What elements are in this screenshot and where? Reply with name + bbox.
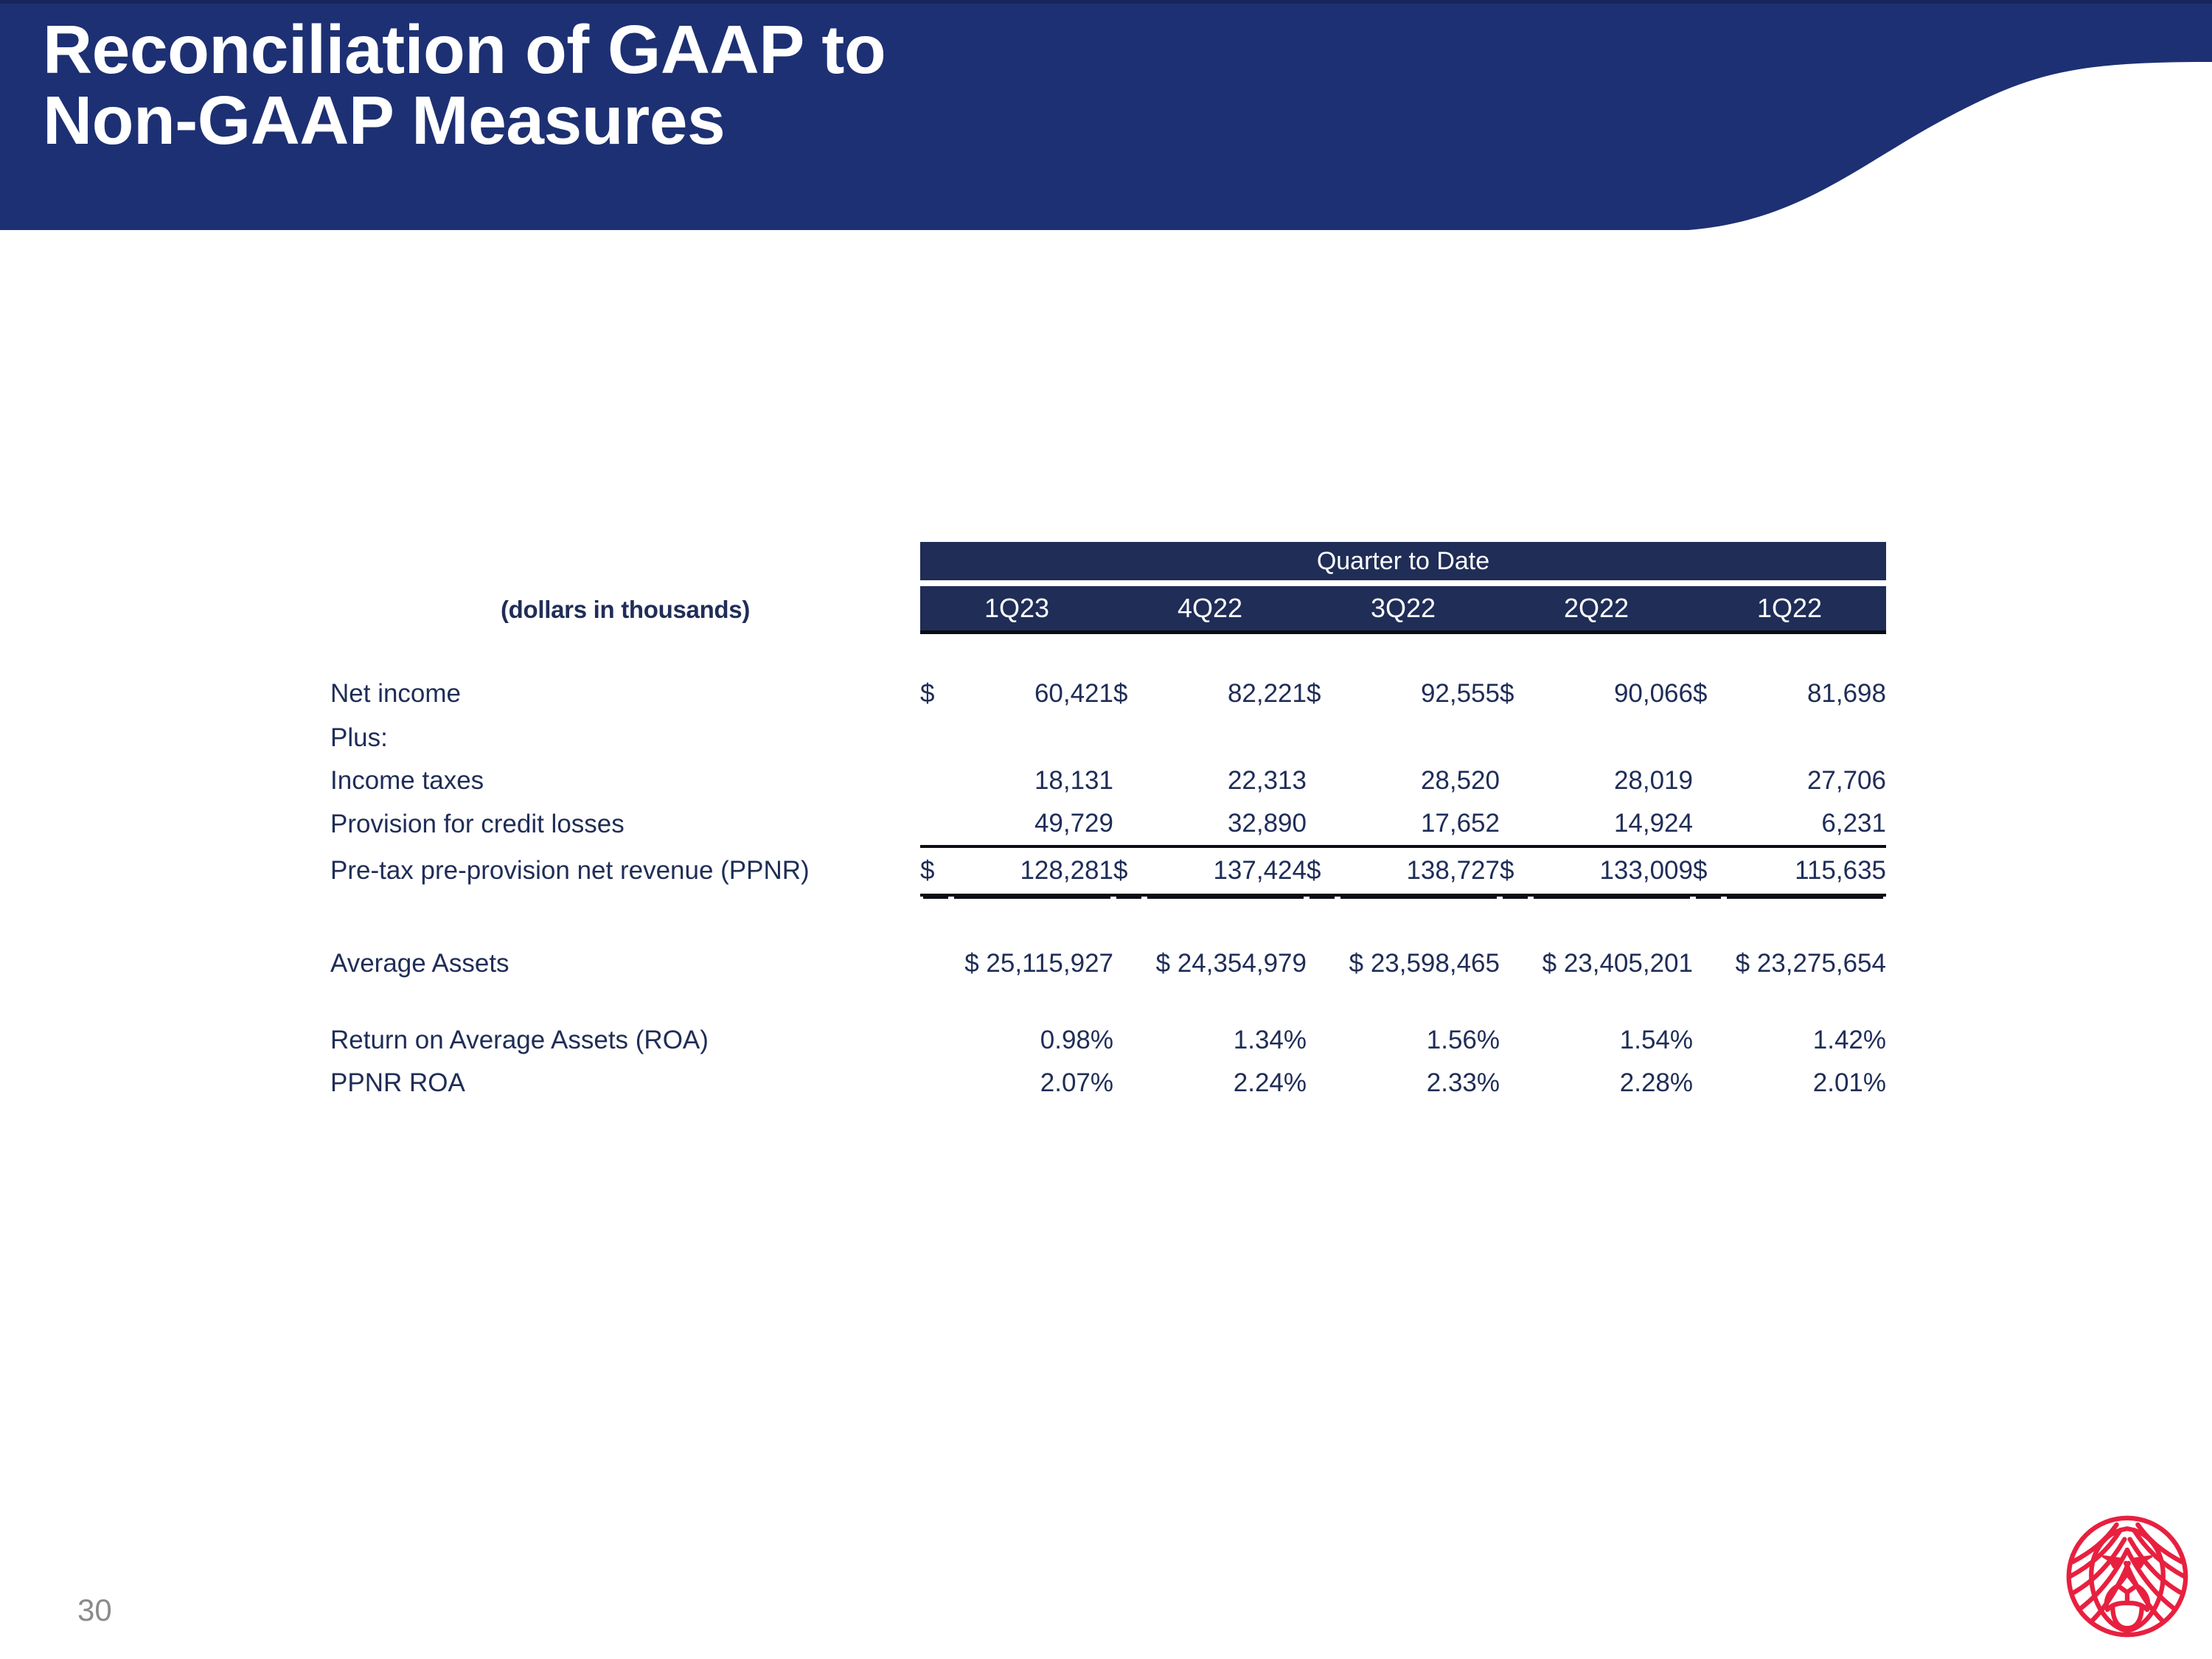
cell-value: 81,698 — [1724, 671, 1886, 717]
cell-value: 17,652 — [1338, 802, 1500, 846]
table-row-ppnr-roa: PPNR ROA 2.07% 2.24% 2.33% 2.28% 2.01% — [330, 1062, 1886, 1105]
currency-symbol: $ — [1693, 846, 1724, 895]
lion-head-logo — [2057, 1510, 2197, 1643]
cell-value: 90,066 — [1531, 671, 1693, 717]
table-row-provision-credit-losses: Provision for credit losses 49,729 32,89… — [330, 802, 1886, 846]
row-label: Pre-tax pre-provision net revenue (PPNR) — [330, 846, 920, 895]
reconciliation-table: Quarter to Date (dollars in thousands) 1… — [330, 542, 1886, 1105]
currency-symbol: $ — [1113, 846, 1144, 895]
cell-value: 18,131 — [951, 759, 1113, 802]
row-label: Net income — [330, 671, 920, 717]
currency-symbol: $ — [1307, 846, 1338, 895]
cell-value: $ 23,275,654 — [1693, 941, 1886, 987]
cell-value: 60,421 — [951, 671, 1113, 717]
cell-value: 1.56% — [1338, 1019, 1500, 1062]
cell-value: 28,520 — [1338, 759, 1500, 802]
cell-value: 115,635 — [1724, 846, 1886, 895]
cell-value: 14,924 — [1531, 802, 1693, 846]
cell-value: 32,890 — [1144, 802, 1307, 846]
row-label: Plus: — [330, 717, 920, 759]
row-label: Provision for credit losses — [330, 802, 920, 846]
cell-value: 2.33% — [1338, 1062, 1500, 1105]
cell-value: 2.01% — [1724, 1062, 1886, 1105]
cell-value: 0.98% — [951, 1019, 1113, 1062]
slide-canvas: Reconciliation of GAAP to Non-GAAP Measu… — [0, 0, 2212, 1659]
cell-value: 1.54% — [1531, 1019, 1693, 1062]
cell-value: 92,555 — [1338, 671, 1500, 717]
currency-symbol: $ — [1113, 671, 1144, 717]
cell-value: 1.34% — [1144, 1019, 1307, 1062]
cell-value: $ 23,598,465 — [1307, 941, 1500, 987]
cell-value: 2.07% — [951, 1062, 1113, 1105]
group-header-label: Quarter to Date — [920, 542, 1886, 580]
table-column-header-row: (dollars in thousands) 1Q23 4Q22 3Q22 2Q… — [330, 586, 1886, 633]
table-row-ppnr: Pre-tax pre-provision net revenue (PPNR)… — [330, 846, 1886, 895]
cell-value: 22,313 — [1144, 759, 1307, 802]
column-header-1q22: 1Q22 — [1693, 586, 1886, 633]
currency-symbol: $ — [1693, 671, 1724, 717]
table-group-header-row: Quarter to Date — [330, 542, 1886, 580]
cell-value: 138,727 — [1338, 846, 1500, 895]
units-label: (dollars in thousands) — [501, 596, 750, 623]
currency-symbol: $ — [1307, 671, 1338, 717]
cell-value: 49,729 — [951, 802, 1113, 846]
column-header-2q22: 2Q22 — [1500, 586, 1693, 633]
cell-value: 28,019 — [1531, 759, 1693, 802]
table-row-spacer — [330, 895, 1886, 941]
row-label: Average Assets — [330, 941, 920, 987]
table-row-roa: Return on Average Assets (ROA) 0.98% 1.3… — [330, 1019, 1886, 1062]
currency-symbol: $ — [1500, 671, 1531, 717]
table-row-net-income: Net income $ 60,421 $ 82,221 $ 92,555 $ … — [330, 671, 1886, 717]
page-number: 30 — [77, 1593, 112, 1628]
cell-value: 27,706 — [1724, 759, 1886, 802]
currency-symbol: $ — [1500, 846, 1531, 895]
table-row-average-assets: Average Assets $ 25,115,927 $ 24,354,979… — [330, 941, 1886, 987]
column-header-3q22: 3Q22 — [1307, 586, 1500, 633]
column-header-4q22: 4Q22 — [1113, 586, 1307, 633]
header-spacer — [330, 633, 1886, 672]
cell-value: 2.24% — [1144, 1062, 1307, 1105]
currency-symbol: $ — [920, 846, 951, 895]
row-label: Income taxes — [330, 759, 920, 802]
header-band-gap — [330, 580, 1886, 586]
cell-value: 2.28% — [1531, 1062, 1693, 1105]
column-header-1q23: 1Q23 — [920, 586, 1113, 633]
cell-value: $ 24,354,979 — [1113, 941, 1307, 987]
cell-value: 133,009 — [1531, 846, 1693, 895]
cell-value: 1.42% — [1724, 1019, 1886, 1062]
cell-value: $ 25,115,927 — [920, 941, 1113, 987]
cell-value: $ 23,405,201 — [1500, 941, 1693, 987]
table-row-income-taxes: Income taxes 18,131 22,313 28,520 28,019… — [330, 759, 1886, 802]
cell-value: 82,221 — [1144, 671, 1307, 717]
cell-value: 128,281 — [951, 846, 1113, 895]
page-title: Reconciliation of GAAP to Non-GAAP Measu… — [43, 15, 1444, 156]
cell-value: 6,231 — [1724, 802, 1886, 846]
cell-value: 137,424 — [1144, 846, 1307, 895]
table-row-spacer — [330, 987, 1886, 1019]
currency-symbol: $ — [920, 671, 951, 717]
table-row-plus: Plus: — [330, 717, 1886, 759]
row-label: Return on Average Assets (ROA) — [330, 1019, 920, 1062]
row-label: PPNR ROA — [330, 1062, 920, 1105]
